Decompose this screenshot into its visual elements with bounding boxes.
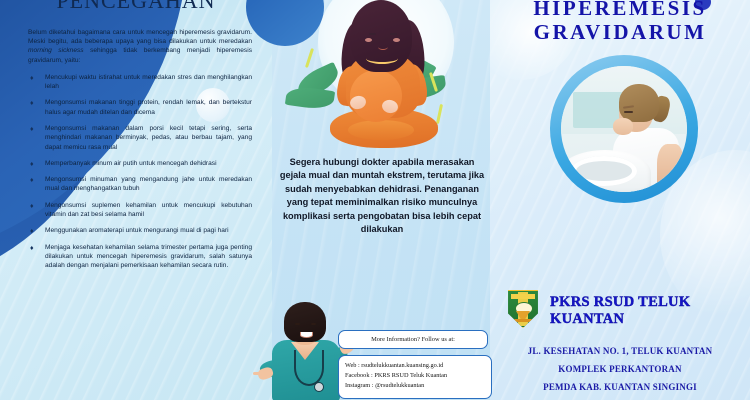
leg-fold (348, 120, 414, 140)
bullet-diamond-icon: ♦ (30, 125, 34, 134)
intro-text-before: Belum diketahui bagaimana cara untuk men… (28, 29, 252, 45)
contact-facebook[interactable]: Facebook : PKRS RSUD Teluk Kuantan (339, 371, 491, 381)
organization-name: PKRS RSUD TELUK KUANTAN (550, 294, 740, 328)
prevention-content: Belum diketahui bagaimana cara untuk men… (28, 28, 252, 278)
follow-us-label: More Information? Follow us at: (339, 331, 487, 348)
hand-over-mouth (613, 118, 633, 135)
tip-text: Mengonsumsi suplemen kehamilan untuk men… (45, 202, 252, 218)
call-to-action-message: Segera hubungi dokter apabila merasakan … (276, 156, 488, 236)
list-item: ♦Mengonsumsi minuman yang mengandung jah… (28, 175, 252, 194)
organization-row: PKRS RSUD TELUK KUANTAN (506, 290, 736, 328)
list-item: ♦Menggunakan aromaterapi untuk mengurang… (28, 226, 252, 235)
prevention-tips-list: ♦Mencukupi waktu istirahat untuk meredak… (28, 73, 252, 271)
list-item: ♦Mencukupi waktu istirahat untuk meredak… (28, 73, 252, 92)
nausea-photo-ring (550, 55, 698, 203)
page-title: HIPEREMESIS GRAVIDARUM (490, 0, 750, 44)
bullet-diamond-icon: ♦ (30, 99, 34, 108)
address-block: JL. KESEHATAN NO. 1, TELUK KUANTAN KOMPL… (500, 342, 740, 396)
address-line-3: PEMDA KAB. KUANTAN SINGINGI (500, 378, 740, 396)
pregnant-woman-illustration (272, 0, 490, 156)
brochure-poster: PENCEGAHAN Belum diketahui bagaimana car… (0, 0, 750, 400)
photo-hair (619, 84, 659, 122)
tip-text: Menjaga kesehatan kehamilan selama trime… (45, 244, 252, 270)
bullet-diamond-icon: ♦ (30, 244, 34, 253)
list-item: ♦Mengonsumsi suplemen kehamilan untuk me… (28, 201, 252, 220)
section-title-pencegahan: PENCEGAHAN (0, 0, 272, 14)
contact-web[interactable]: Web : rsudtelukkuantan.kuansing.go.id (339, 356, 491, 371)
follow-us-banner[interactable]: More Information? Follow us at: (338, 330, 488, 349)
toilet-seat (571, 156, 637, 186)
kuantan-singingi-shield-logo (506, 290, 540, 328)
nurse-pointing-photo (258, 302, 350, 400)
photo-arm (657, 144, 683, 192)
list-item: ♦Menjaga kesehatan kehamilan selama trim… (28, 243, 252, 271)
tip-text: Mengonsumsi makanan dalam porsi kecil te… (45, 125, 252, 151)
title-line-2: GRAVIDARUM (490, 20, 750, 44)
collar-trim (366, 53, 398, 64)
bullet-diamond-icon: ♦ (30, 74, 34, 83)
smile (378, 44, 388, 50)
nurse-eye-right (311, 323, 316, 325)
address-line-1: JL. KESEHATAN NO. 1, TELUK KUANTAN (500, 342, 740, 360)
shield-emblem-base (514, 319, 532, 322)
right-panel: HIPEREMESIS GRAVIDARUM (490, 0, 750, 400)
bullet-diamond-icon: ♦ (30, 202, 34, 211)
bullet-diamond-icon: ♦ (30, 227, 34, 236)
nurse-smile (300, 332, 313, 338)
bullet-diamond-icon: ♦ (30, 176, 34, 185)
tip-text: Mengonsumsi minuman yang mengandung jahe… (45, 176, 252, 192)
contact-info-box[interactable]: Web : rsudtelukkuantan.kuansing.go.id Fa… (338, 355, 492, 399)
eye-left (369, 33, 376, 35)
nurse-finger-left (253, 372, 265, 375)
intro-text-italic: morning sickness (28, 47, 84, 54)
intro-paragraph: Belum diketahui bagaimana cara untuk men… (28, 28, 252, 65)
tip-text: Memperbanyak minum air putih untuk mence… (45, 160, 217, 167)
title-line-1: HIPEREMESIS (490, 0, 750, 20)
list-item: ♦Memperbanyak minum air putih untuk menc… (28, 159, 252, 168)
left-panel: PENCEGAHAN Belum diketahui bagaimana car… (0, 0, 272, 400)
cheek-left (365, 38, 372, 42)
tip-text: Menggunakan aromaterapi untuk mengurangi… (45, 227, 229, 234)
stethoscope-icon (294, 350, 324, 386)
list-item: ♦Mengonsumsi makanan dalam porsi kecil t… (28, 124, 252, 152)
tip-text: Mencukupi waktu istirahat untuk meredaka… (45, 74, 252, 90)
photo-eye (624, 111, 633, 113)
contact-instagram[interactable]: Instagram : @rsudtelukkuantan (339, 381, 491, 391)
cheek-right (393, 38, 400, 42)
pregnant-woman-nausea-toilet-photo (561, 66, 687, 192)
eye-right (390, 33, 397, 35)
tip-text: Mengonsumsi makanan tinggi protein, rend… (45, 99, 252, 115)
address-line-2: KOMPLEK PERKANTORAN (500, 360, 740, 378)
shield-top-bar (511, 294, 535, 299)
sprig-icon (305, 48, 314, 68)
list-item: ♦Mengonsumsi makanan tinggi protein, ren… (28, 98, 252, 117)
bullet-diamond-icon: ♦ (30, 160, 34, 169)
woman-figure (324, 0, 444, 150)
nurse-eye-left (295, 323, 300, 325)
stethoscope-bell-icon (314, 382, 324, 392)
